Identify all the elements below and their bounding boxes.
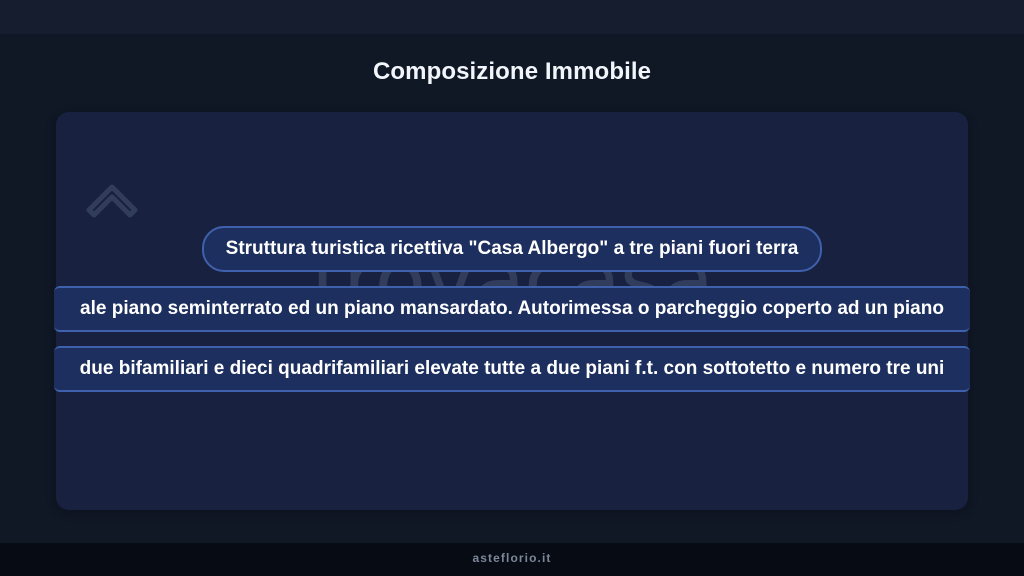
composition-pill-3[interactable]: due bifamiliari e dieci quadrifamiliari … bbox=[54, 346, 971, 392]
composition-pill-1[interactable]: Struttura turistica ricettiva "Casa Albe… bbox=[202, 226, 823, 272]
footer-site-label: asteflorio.it bbox=[0, 551, 1024, 565]
composition-row: due bifamiliari e dieci quadrifamiliari … bbox=[0, 346, 1024, 392]
composition-row: Struttura turistica ricettiva "Casa Albe… bbox=[0, 226, 1024, 272]
composition-rows: Struttura turistica ricettiva "Casa Albe… bbox=[0, 226, 1024, 406]
page-title: Composizione Immobile bbox=[0, 58, 1024, 86]
composition-pill-2[interactable]: ale piano seminterrato ed un piano mansa… bbox=[54, 286, 970, 332]
composition-row: ale piano seminterrato ed un piano mansa… bbox=[0, 286, 1024, 332]
background-band-top bbox=[0, 0, 1024, 34]
